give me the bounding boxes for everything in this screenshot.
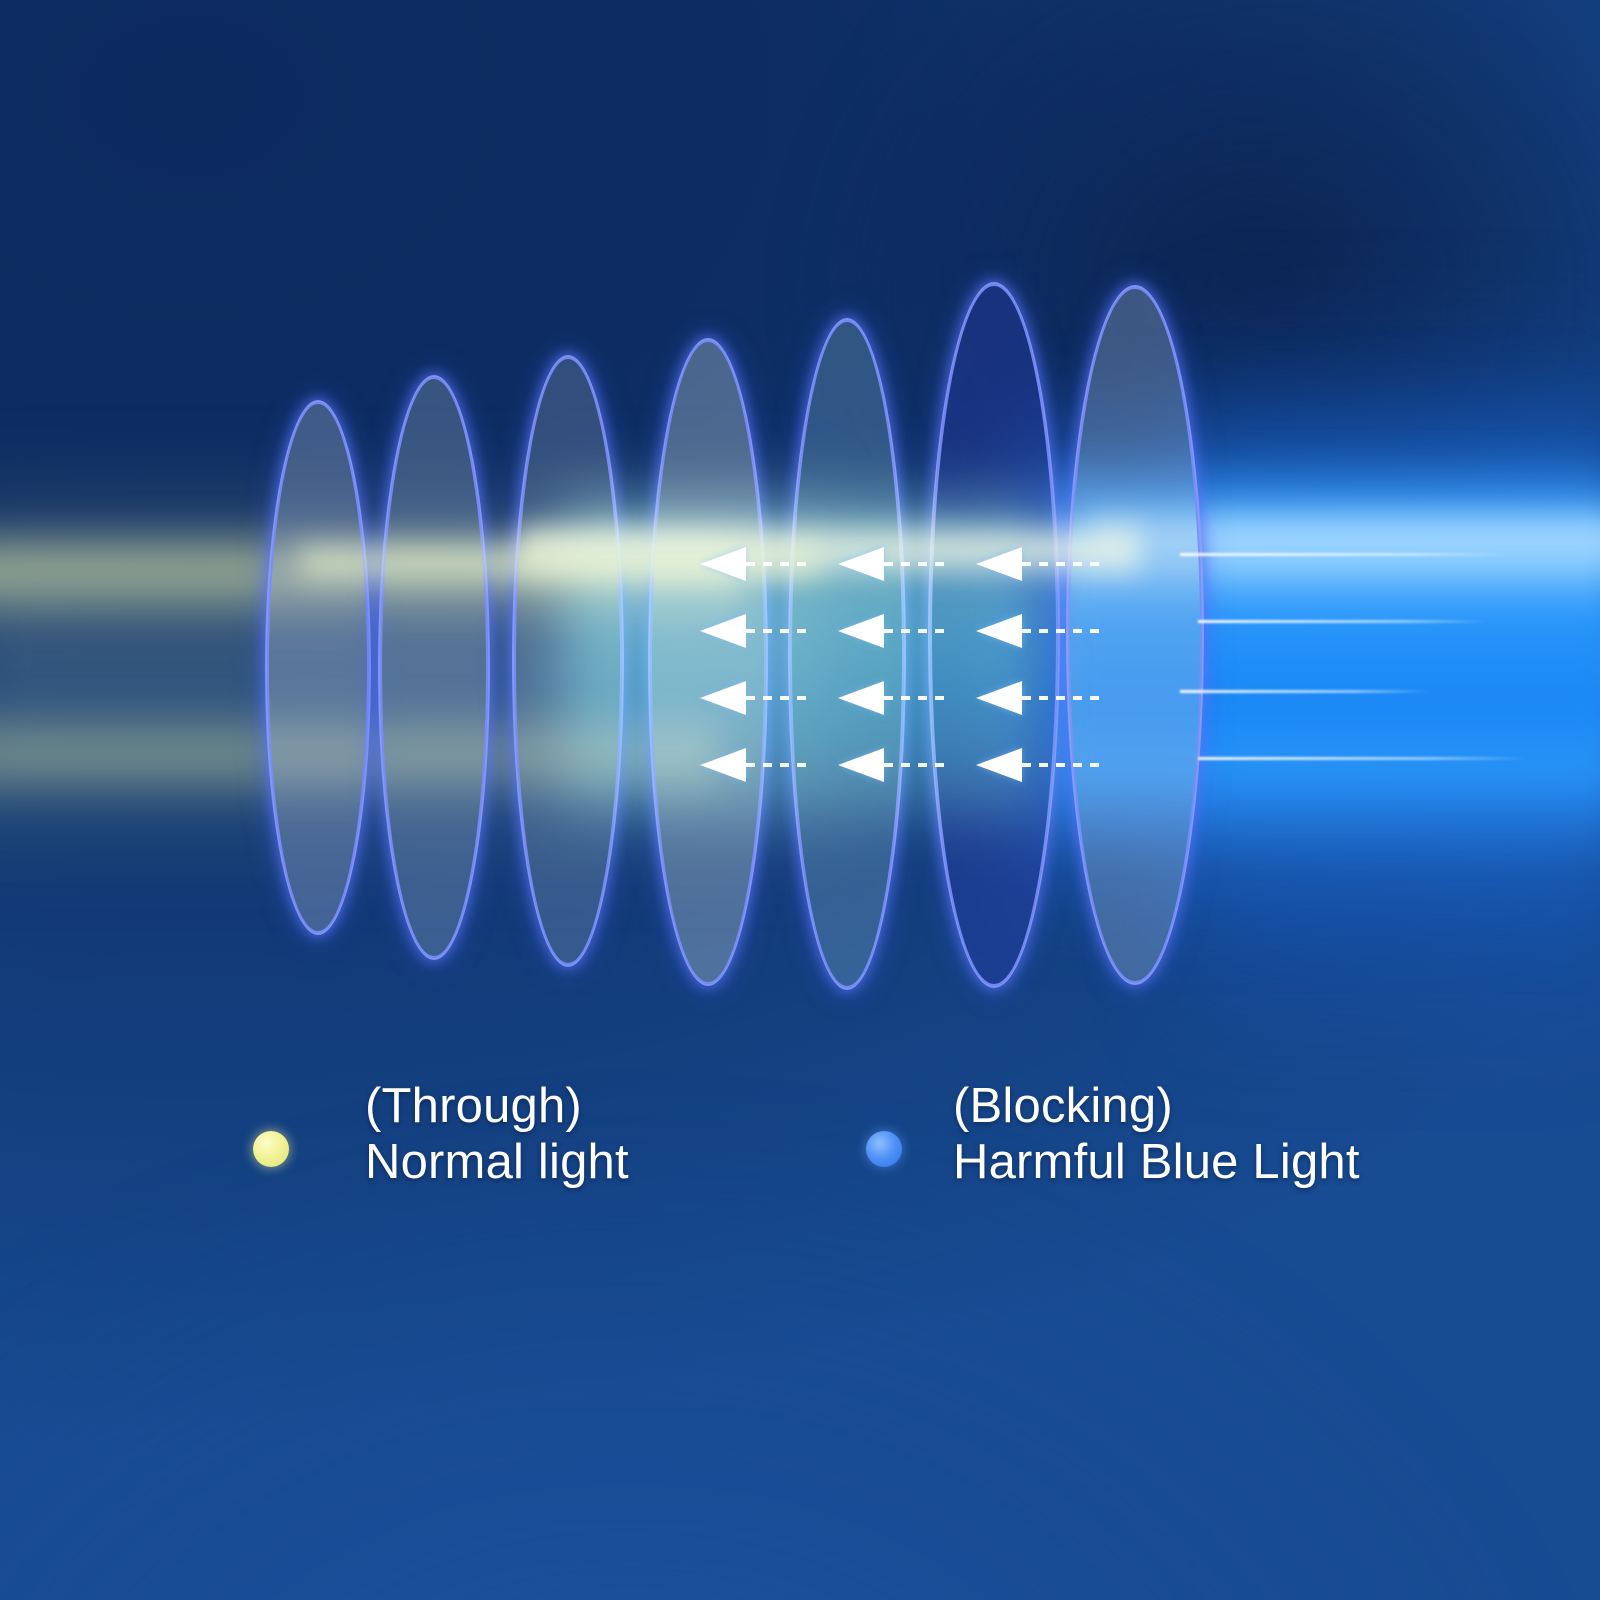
arrow-head-icon — [700, 681, 746, 715]
lens-4 — [648, 338, 768, 986]
arrow-dashed-tail — [746, 763, 812, 767]
light-streak — [1198, 757, 1528, 760]
legend-dot-normal-light — [253, 1131, 289, 1167]
arrow-dashed-tail — [746, 696, 812, 700]
arrow-head-icon — [976, 748, 1022, 782]
legend-label-normal-light: (Through) Normal light — [365, 1078, 629, 1190]
lens-2-rim — [378, 375, 490, 960]
lens-1-rim — [265, 400, 371, 935]
legend-line2-harmful-blue-light: Harmful Blue Light — [953, 1134, 1360, 1190]
blue-light-lens-diagram: (Through) Normal light (Blocking) Harmfu… — [0, 0, 1600, 1600]
background-bottom-glow — [0, 896, 1600, 1600]
lens-3-rim — [512, 355, 624, 967]
arrow-head-icon — [838, 681, 884, 715]
arrow-dashed-tail — [884, 696, 950, 700]
light-streak — [1180, 553, 1510, 556]
arrow-head-icon — [700, 614, 746, 648]
legend-line2-normal-light: Normal light — [365, 1134, 629, 1190]
arrow-dashed-tail — [1022, 696, 1100, 700]
arrow-dashed-tail — [746, 562, 812, 566]
arrow-dashed-tail — [1022, 763, 1100, 767]
arrow-head-icon — [838, 614, 884, 648]
arrow-head-icon — [700, 547, 746, 581]
lens-1 — [265, 400, 371, 935]
lens-5-rim — [788, 318, 906, 990]
arrow-head-icon — [976, 547, 1022, 581]
legend-dot-harmful-blue-light — [866, 1131, 902, 1167]
legend-label-harmful-blue-light: (Blocking) Harmful Blue Light — [953, 1078, 1360, 1190]
lens-2 — [378, 375, 490, 960]
arrow-dashed-tail — [884, 629, 950, 633]
legend-line1-harmful-blue-light: (Blocking) — [953, 1078, 1360, 1134]
arrow-head-icon — [838, 547, 884, 581]
arrow-dashed-tail — [1022, 562, 1100, 566]
lens-3 — [512, 355, 624, 967]
arrow-head-icon — [700, 748, 746, 782]
arrow-dashed-tail — [746, 629, 812, 633]
lens-7-rim — [1066, 285, 1204, 985]
arrow-dashed-tail — [1022, 629, 1100, 633]
lens-5 — [788, 318, 906, 990]
arrow-dashed-tail — [884, 562, 950, 566]
light-streak — [1198, 620, 1488, 623]
arrow-head-icon — [976, 614, 1022, 648]
lens-7 — [1066, 285, 1204, 985]
legend-line1-normal-light: (Through) — [365, 1078, 629, 1134]
arrow-head-icon — [838, 748, 884, 782]
lens-4-rim — [648, 338, 768, 986]
arrow-head-icon — [976, 681, 1022, 715]
light-streak — [1180, 690, 1430, 693]
arrow-dashed-tail — [884, 763, 950, 767]
